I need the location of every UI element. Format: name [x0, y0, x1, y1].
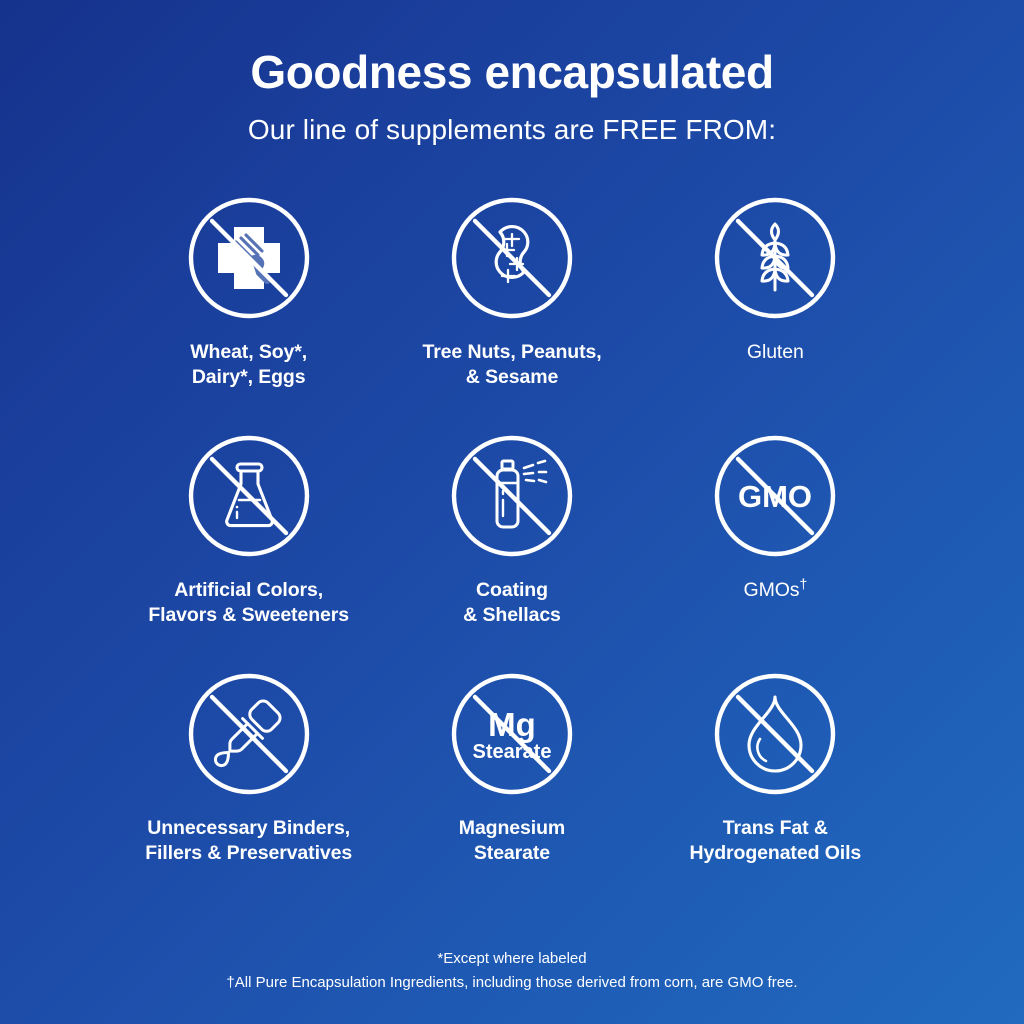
free-from-item-magnesium-stearate: Mg Stearate Magnesium Stearate: [380, 666, 643, 904]
infographic-page: Goodness encapsulated Our line of supple…: [0, 0, 1024, 1024]
no-gmo-text-icon: GMO: [707, 428, 843, 564]
free-from-item-coating: Coating & Shellacs: [380, 428, 643, 666]
gmo-label-text: GMOs: [744, 579, 800, 601]
free-from-item-gmo: GMO GMOs†: [644, 428, 907, 666]
free-from-item-label: Tree Nuts, Peanuts, & Sesame: [422, 340, 601, 390]
free-from-item-label: Artificial Colors, Flavors & Sweeteners: [148, 578, 349, 628]
no-flask-icon: [181, 428, 317, 564]
page-subtitle: Our line of supplements are FREE FROM:: [248, 114, 776, 146]
no-spray-can-icon: [444, 428, 580, 564]
free-from-item-nuts: Tree Nuts, Peanuts, & Sesame: [380, 190, 643, 428]
no-mg-stearate-icon: Mg Stearate: [444, 666, 580, 802]
free-from-item-allergens: Wheat, Soy*, Dairy*, Eggs: [117, 190, 380, 428]
free-from-item-label: GMOs†: [744, 578, 808, 603]
free-from-item-binders: Unnecessary Binders, Fillers & Preservat…: [117, 666, 380, 904]
mg-icon-text: Mg: [488, 706, 536, 743]
free-from-item-label: Gluten: [747, 340, 804, 365]
page-title: Goodness encapsulated: [250, 48, 773, 96]
footnote-asterisk: *Except where labeled: [0, 947, 1024, 972]
free-from-item-label: Wheat, Soy*, Dairy*, Eggs: [190, 340, 307, 390]
no-wheat-stalk-icon: [707, 190, 843, 326]
free-from-item-label: Coating & Shellacs: [463, 578, 561, 628]
free-from-item-trans-fat: Trans Fat & Hydrogenated Oils: [644, 666, 907, 904]
no-peanut-icon: [444, 190, 580, 326]
no-dropper-icon: [181, 666, 317, 802]
no-fork-cross-icon: [181, 190, 317, 326]
dagger-footnote-marker: †: [799, 576, 807, 592]
free-from-item-label: Unnecessary Binders, Fillers & Preservat…: [145, 816, 352, 866]
footnote-dagger: †All Pure Encapsulation Ingredients, inc…: [0, 971, 1024, 996]
free-from-item-gluten: Gluten: [644, 190, 907, 428]
free-from-grid: Wheat, Soy*, Dairy*, Eggs: [117, 190, 907, 904]
free-from-item-label: Trans Fat & Hydrogenated Oils: [689, 816, 861, 866]
free-from-item-label: Magnesium Stearate: [459, 816, 565, 866]
free-from-item-artificial-colors: Artificial Colors, Flavors & Sweeteners: [117, 428, 380, 666]
no-oil-droplet-icon: [707, 666, 843, 802]
footnotes: *Except where labeled †All Pure Encapsul…: [0, 947, 1024, 997]
